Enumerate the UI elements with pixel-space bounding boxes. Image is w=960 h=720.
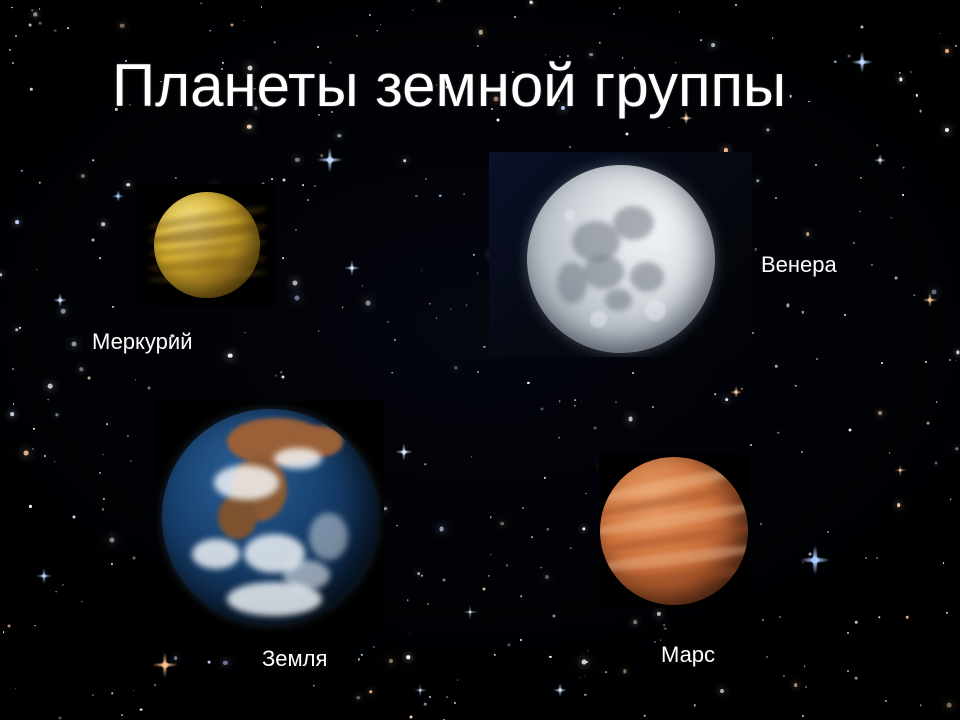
- star: [694, 704, 696, 706]
- bright-star: [344, 260, 360, 276]
- page-title: Планеты земной группы: [112, 52, 872, 120]
- star: [243, 20, 245, 22]
- star: [587, 650, 588, 651]
- star: [760, 523, 762, 525]
- star: [12, 368, 14, 370]
- star: [439, 194, 442, 197]
- star: [127, 435, 129, 437]
- star: [357, 696, 361, 700]
- star: [412, 10, 414, 12]
- star: [318, 330, 320, 332]
- star: [786, 304, 789, 307]
- planet-image-earth: [156, 401, 384, 633]
- star: [293, 280, 298, 285]
- star: [356, 35, 358, 37]
- star: [477, 45, 479, 47]
- earth-cloud: [214, 465, 279, 500]
- star: [91, 238, 94, 241]
- star: [581, 401, 583, 403]
- star: [477, 371, 479, 373]
- star: [281, 372, 283, 374]
- slide-canvas: Планеты земной группы: [0, 0, 960, 720]
- star: [775, 365, 777, 367]
- star: [885, 700, 887, 702]
- star: [520, 595, 522, 597]
- star: [899, 78, 902, 81]
- star: [714, 393, 716, 395]
- star: [545, 575, 549, 579]
- star: [876, 557, 878, 559]
- star: [372, 646, 374, 648]
- star: [314, 185, 316, 187]
- star: [910, 71, 912, 73]
- star: [9, 49, 11, 51]
- star: [62, 584, 64, 586]
- star: [755, 248, 758, 251]
- star: [558, 437, 560, 439]
- star: [365, 300, 370, 305]
- star: [132, 557, 135, 560]
- star: [752, 332, 754, 334]
- star: [478, 30, 483, 35]
- star: [261, 6, 263, 8]
- bright-star: [553, 683, 567, 697]
- star: [945, 128, 949, 132]
- star: [783, 675, 785, 677]
- star: [282, 376, 285, 379]
- bright-star: [53, 293, 67, 307]
- star: [10, 413, 14, 417]
- star: [133, 690, 135, 692]
- star: [425, 178, 427, 180]
- planet-image-venus: [489, 152, 752, 357]
- star: [29, 24, 32, 27]
- bright-star: [414, 684, 427, 697]
- star: [889, 453, 891, 455]
- star: [446, 696, 448, 698]
- star: [471, 456, 473, 458]
- star: [54, 29, 57, 32]
- lunar-crater: [590, 311, 607, 328]
- star: [859, 211, 861, 213]
- star: [585, 493, 587, 495]
- star: [103, 498, 105, 500]
- star: [913, 295, 915, 297]
- star: [756, 179, 759, 182]
- star: [271, 178, 273, 180]
- star: [376, 30, 378, 32]
- star: [847, 632, 849, 634]
- star: [207, 661, 210, 664]
- star: [860, 177, 862, 179]
- star: [429, 696, 431, 698]
- star: [584, 694, 586, 696]
- star: [106, 423, 108, 425]
- star: [802, 562, 803, 563]
- star: [802, 715, 804, 717]
- star: [766, 129, 769, 132]
- star: [313, 685, 315, 687]
- star: [39, 8, 41, 10]
- star: [570, 548, 571, 549]
- star: [849, 428, 852, 431]
- bright-star: [112, 190, 124, 202]
- star: [282, 179, 285, 182]
- star: [586, 661, 588, 663]
- star: [61, 309, 66, 314]
- star: [111, 533, 112, 534]
- star: [508, 644, 511, 647]
- star: [454, 366, 457, 369]
- star: [15, 35, 17, 37]
- star: [894, 277, 897, 280]
- star: [855, 677, 858, 680]
- star: [93, 160, 95, 162]
- star: [877, 144, 879, 146]
- star: [947, 703, 952, 708]
- star: [15, 328, 19, 332]
- star: [58, 717, 61, 720]
- star: [369, 14, 371, 16]
- earth-cloud: [192, 539, 240, 569]
- earth-cloud: [283, 560, 331, 590]
- star: [32, 448, 34, 450]
- star: [871, 263, 873, 265]
- star: [815, 164, 817, 166]
- star: [775, 197, 777, 199]
- star: [878, 616, 880, 618]
- star: [623, 670, 626, 673]
- star: [520, 639, 522, 641]
- star: [112, 693, 114, 695]
- star: [387, 321, 389, 323]
- star: [11, 7, 13, 9]
- star: [897, 503, 901, 507]
- star: [109, 537, 114, 542]
- star: [593, 427, 596, 430]
- star: [424, 703, 427, 706]
- earth-cloud: [274, 448, 322, 470]
- star: [228, 353, 233, 358]
- star: [230, 23, 233, 26]
- star: [438, 0, 441, 2]
- lunar-mare: [605, 289, 631, 312]
- earth-disc: [162, 409, 378, 625]
- star: [39, 22, 42, 25]
- star: [936, 402, 938, 404]
- star: [47, 399, 49, 401]
- star: [500, 522, 504, 526]
- star: [657, 612, 661, 616]
- star: [209, 30, 211, 32]
- star: [33, 428, 35, 430]
- star: [725, 398, 729, 402]
- star: [804, 665, 806, 667]
- star: [490, 516, 491, 517]
- star: [599, 41, 601, 43]
- star: [540, 567, 542, 569]
- star: [806, 232, 810, 236]
- star: [579, 677, 580, 678]
- star: [463, 193, 465, 195]
- star: [762, 619, 764, 621]
- star: [13, 403, 15, 405]
- star: [920, 705, 921, 706]
- star: [943, 562, 945, 564]
- bright-star: [395, 443, 413, 461]
- star: [772, 37, 774, 39]
- star: [668, 127, 670, 129]
- star: [605, 671, 607, 673]
- star: [223, 661, 227, 665]
- star: [380, 24, 382, 26]
- star: [34, 625, 36, 627]
- star: [29, 505, 31, 507]
- star: [844, 314, 846, 316]
- star: [956, 351, 959, 354]
- star: [802, 311, 804, 313]
- star: [19, 327, 21, 329]
- star: [827, 531, 829, 533]
- star: [466, 305, 468, 307]
- star: [569, 146, 571, 148]
- star: [679, 11, 681, 13]
- star: [625, 133, 628, 136]
- star: [92, 694, 94, 696]
- lunar-crater: [658, 240, 671, 253]
- star: [663, 624, 665, 626]
- planet-image-mercury: [138, 184, 276, 306]
- star: [342, 307, 344, 309]
- bright-star: [317, 147, 343, 173]
- star: [573, 405, 575, 407]
- lunar-crater: [645, 300, 666, 321]
- star: [619, 7, 621, 9]
- star: [48, 384, 53, 389]
- star: [531, 536, 533, 538]
- star: [473, 254, 475, 256]
- planet-label-venus: Венера: [761, 252, 837, 278]
- star: [307, 199, 309, 201]
- star: [135, 379, 137, 381]
- star: [443, 579, 446, 582]
- star: [102, 222, 106, 226]
- star: [955, 360, 957, 362]
- star: [140, 708, 143, 711]
- star: [110, 563, 112, 565]
- star: [853, 242, 855, 244]
- star: [295, 229, 297, 231]
- star: [700, 39, 702, 41]
- planet-label-mercury: Меркурий: [92, 329, 192, 355]
- star: [126, 183, 130, 187]
- lunar-mare: [557, 262, 587, 303]
- star: [919, 110, 922, 113]
- star: [111, 305, 113, 307]
- star: [245, 332, 247, 334]
- star: [450, 308, 452, 310]
- star: [805, 686, 807, 688]
- lunar-mare: [613, 206, 654, 240]
- star: [553, 615, 556, 618]
- star: [36, 269, 38, 271]
- star: [939, 33, 941, 35]
- star: [482, 587, 485, 590]
- star: [409, 715, 412, 718]
- star: [950, 499, 952, 501]
- star: [120, 23, 125, 28]
- star: [735, 4, 737, 6]
- star: [506, 564, 508, 566]
- star: [15, 220, 19, 224]
- star: [31, 9, 33, 11]
- star: [282, 257, 284, 259]
- star: [247, 124, 252, 129]
- planet-label-mars: Марс: [661, 642, 715, 668]
- planet-image-mars: [599, 454, 749, 608]
- star: [294, 296, 299, 301]
- star: [439, 527, 444, 532]
- earth-cloud: [309, 513, 348, 561]
- star: [628, 416, 633, 421]
- star: [421, 270, 423, 272]
- star: [147, 387, 150, 390]
- star: [653, 641, 655, 643]
- star: [274, 41, 277, 44]
- star: [547, 528, 549, 530]
- star: [72, 516, 75, 519]
- star: [7, 625, 10, 628]
- star: [34, 13, 37, 16]
- star: [559, 400, 561, 402]
- lunar-crater: [564, 210, 575, 221]
- star: [477, 272, 479, 274]
- star: [902, 166, 905, 169]
- star: [490, 554, 492, 556]
- star: [99, 472, 101, 474]
- lunar-mare: [583, 255, 624, 289]
- star: [927, 422, 930, 425]
- star: [935, 462, 938, 465]
- bright-star: [894, 464, 907, 477]
- star: [103, 454, 105, 456]
- star: [865, 557, 867, 559]
- planet-label-earth: Земля: [262, 646, 327, 672]
- star: [514, 16, 516, 18]
- star: [906, 616, 909, 619]
- star: [3, 631, 5, 633]
- star: [274, 375, 276, 377]
- star: [494, 654, 496, 656]
- star: [0, 273, 2, 277]
- star: [898, 72, 900, 74]
- star: [847, 670, 849, 672]
- star: [878, 411, 882, 415]
- venus-disc: [527, 165, 715, 353]
- star: [720, 689, 724, 693]
- earth-landmass: [218, 495, 257, 538]
- star: [902, 194, 904, 196]
- star: [20, 170, 22, 172]
- star: [436, 317, 438, 319]
- star: [527, 382, 529, 384]
- star: [403, 159, 407, 163]
- star: [615, 401, 617, 403]
- star: [388, 659, 392, 663]
- star: [809, 553, 812, 556]
- star: [454, 702, 456, 704]
- star: [320, 154, 324, 158]
- mercury-disc: [154, 192, 260, 298]
- star: [488, 575, 490, 577]
- star: [200, 2, 202, 4]
- bright-star: [922, 292, 938, 308]
- star: [652, 406, 654, 408]
- star: [925, 361, 927, 363]
- star: [766, 656, 768, 658]
- star: [613, 13, 615, 15]
- star: [174, 656, 178, 660]
- star: [816, 358, 818, 360]
- star: [12, 62, 14, 64]
- star: [891, 217, 893, 219]
- star: [394, 339, 396, 341]
- star: [154, 684, 156, 686]
- star: [916, 94, 918, 96]
- mars-disc: [600, 457, 748, 605]
- star: [361, 653, 363, 655]
- star: [54, 461, 56, 463]
- star: [861, 26, 864, 29]
- star: [358, 658, 360, 660]
- star: [741, 387, 743, 389]
- bright-star: [463, 605, 478, 620]
- star: [396, 525, 398, 527]
- star: [777, 432, 780, 435]
- star: [80, 173, 84, 177]
- bright-star: [800, 545, 830, 575]
- star: [955, 447, 958, 450]
- star: [633, 620, 637, 624]
- star: [38, 181, 40, 183]
- star: [337, 134, 340, 137]
- star: [421, 574, 423, 576]
- star: [391, 372, 393, 374]
- star: [409, 633, 411, 635]
- star: [15, 688, 17, 690]
- star: [946, 612, 948, 614]
- star: [949, 359, 951, 361]
- star: [407, 655, 411, 659]
- star: [55, 591, 57, 593]
- star: [664, 627, 667, 630]
- star: [429, 303, 431, 305]
- star: [660, 639, 662, 641]
- star: [955, 44, 957, 46]
- star: [711, 43, 715, 47]
- star: [801, 451, 803, 453]
- star: [574, 399, 576, 401]
- star: [79, 368, 83, 372]
- star: [522, 507, 524, 509]
- star: [102, 508, 104, 510]
- bright-star: [36, 568, 52, 584]
- star: [415, 195, 417, 197]
- star: [67, 27, 69, 29]
- star: [750, 444, 752, 446]
- star: [407, 600, 408, 601]
- star: [932, 289, 937, 294]
